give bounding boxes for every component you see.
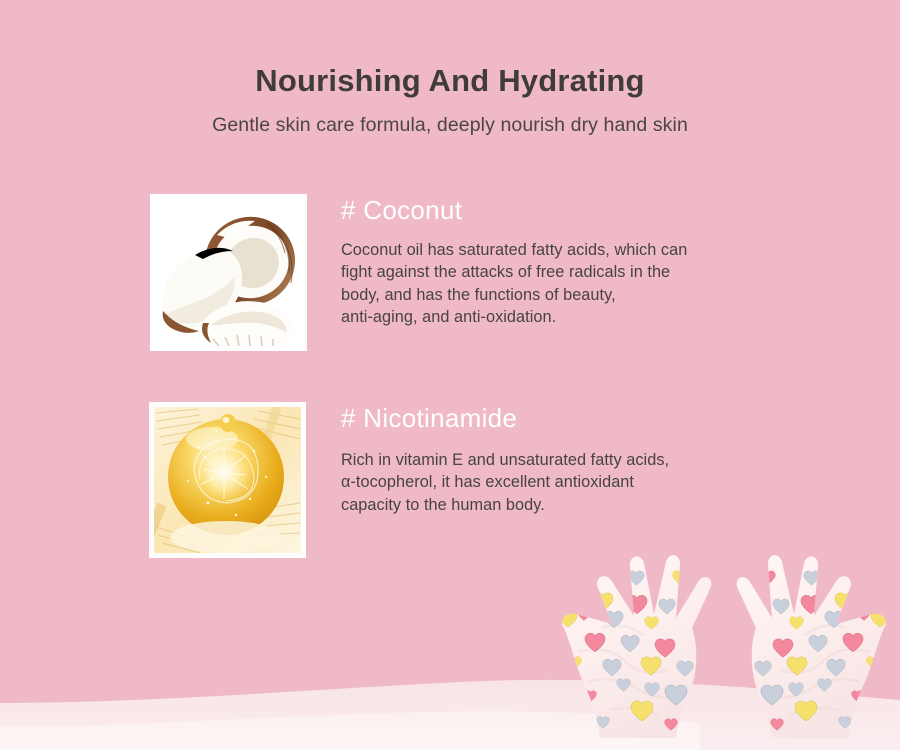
left-glove: [548, 532, 748, 750]
header: Nourishing And Hydrating Gentle skin car…: [0, 0, 900, 137]
nicotinamide-text: # Nicotinamide Rich in vitamin E and uns…: [341, 402, 669, 516]
ingredient-heading-nicotinamide: # Nicotinamide: [341, 404, 669, 433]
ingredient-block-nicotinamide: # Nicotinamide Rich in vitamin E and uns…: [149, 402, 669, 558]
golden-oil-illustration: [154, 407, 301, 553]
coconut-photo: [155, 199, 302, 346]
ingredient-description-nicotinamide: Rich in vitamin E and unsaturated fatty …: [341, 449, 669, 517]
ingredient-heading-coconut: # Coconut: [341, 196, 687, 225]
page-subtitle: Gentle skin care formula, deeply nourish…: [0, 114, 900, 137]
page-title: Nourishing And Hydrating: [0, 64, 900, 98]
right-glove: [700, 532, 900, 750]
nicotinamide-oil-photo: [154, 407, 301, 553]
coconut-text: # Coconut Coconut oil has saturated fatt…: [341, 194, 687, 329]
heart-pattern-gloves-photo: [548, 532, 900, 750]
coconut-photo-frame: [150, 194, 307, 351]
ingredient-description-coconut: Coconut oil has saturated fatty acids, w…: [341, 239, 687, 329]
nicotinamide-photo-frame: [149, 402, 306, 558]
ingredient-block-coconut: # Coconut Coconut oil has saturated fatt…: [150, 194, 687, 351]
coconut-illustration: [155, 199, 302, 346]
